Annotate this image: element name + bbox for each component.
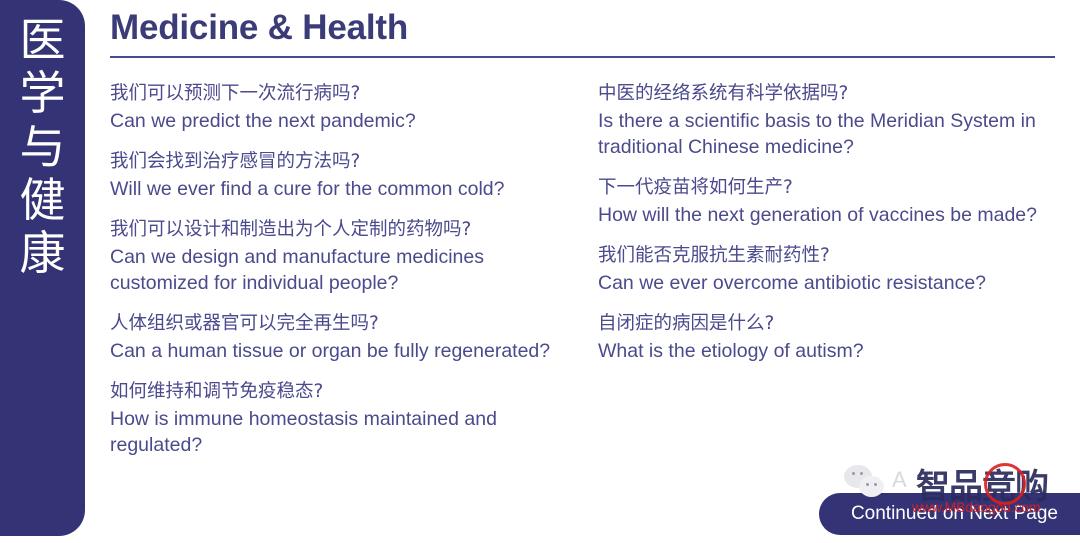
question-en: What is the etiology of autism? — [598, 339, 1048, 365]
question-zh: 我们可以预测下一次流行病吗? — [110, 82, 572, 106]
question-zh: 我们会找到治疗感冒的方法吗? — [110, 150, 572, 174]
question-item: 下一代疫苗将如何生产? How will the next generation… — [598, 176, 1048, 229]
question-item: 我们可以设计和制造出为个人定制的药物吗? Can we design and m… — [110, 218, 572, 297]
wechat-eye-dot — [874, 483, 877, 486]
question-column-right: 中医的经络系统有科学依据吗? Is there a scientific bas… — [598, 82, 1048, 474]
question-en: How will the next generation of vaccines… — [598, 203, 1048, 229]
question-en: How is immune homeostasis maintained and… — [110, 407, 572, 459]
question-en: Can we ever overcome antibiotic resistan… — [598, 271, 1048, 297]
page-header: Medicine & Health — [110, 8, 1055, 58]
question-zh: 自闭症的病因是什么? — [598, 312, 1048, 336]
question-column-left: 我们可以预测下一次流行病吗? Can we predict the next p… — [110, 82, 572, 474]
question-zh: 人体组织或器官可以完全再生吗? — [110, 312, 572, 336]
question-zh: 我们可以设计和制造出为个人定制的药物吗? — [110, 218, 572, 242]
question-item: 我们可以预测下一次流行病吗? Can we predict the next p… — [110, 82, 572, 135]
page-title: Medicine & Health — [110, 8, 1055, 48]
question-item: 如何维持和调节免疫稳态? How is immune homeostasis m… — [110, 380, 572, 459]
category-sidebar: 医 学 与 健 康 — [0, 0, 85, 536]
question-item: 自闭症的病因是什么? What is the etiology of autis… — [598, 312, 1048, 365]
sidebar-char-1: 医 — [20, 14, 66, 67]
sidebar-char-3: 与 — [20, 121, 66, 174]
question-zh: 如何维持和调节免疫稳态? — [110, 380, 572, 404]
question-item: 人体组织或器官可以完全再生吗? Can a human tissue or or… — [110, 312, 572, 365]
continued-banner[interactable]: Continued on Next Page — [819, 493, 1080, 535]
continued-banner-label: Continued on Next Page — [851, 503, 1058, 525]
title-divider — [110, 56, 1055, 58]
question-columns: 我们可以预测下一次流行病吗? Can we predict the next p… — [110, 82, 1060, 474]
slide-page: 医 学 与 健 康 Medicine & Health 我们可以预测下一次流行病… — [0, 0, 1080, 543]
question-item: 中医的经络系统有科学依据吗? Is there a scientific bas… — [598, 82, 1048, 161]
question-en: Is there a scientific basis to the Merid… — [598, 109, 1048, 161]
question-en: Can we design and manufacture medicines … — [110, 245, 572, 297]
question-zh: 中医的经络系统有科学依据吗? — [598, 82, 1048, 106]
question-item: 我们能否克服抗生素耐药性? Can we ever overcome antib… — [598, 244, 1048, 297]
sidebar-char-2: 学 — [20, 67, 66, 120]
question-en: Can a human tissue or organ be fully reg… — [110, 339, 572, 365]
wechat-eye-dot — [866, 483, 869, 486]
question-en: Can we predict the next pandemic? — [110, 109, 572, 135]
question-en: Will we ever find a cure for the common … — [110, 177, 572, 203]
question-zh: 我们能否克服抗生素耐药性? — [598, 244, 1048, 268]
sidebar-char-4: 健 — [20, 174, 66, 227]
question-zh: 下一代疫苗将如何生产? — [598, 176, 1048, 200]
question-item: 我们会找到治疗感冒的方法吗? Will we ever find a cure … — [110, 150, 572, 203]
sidebar-char-5: 康 — [20, 227, 66, 280]
